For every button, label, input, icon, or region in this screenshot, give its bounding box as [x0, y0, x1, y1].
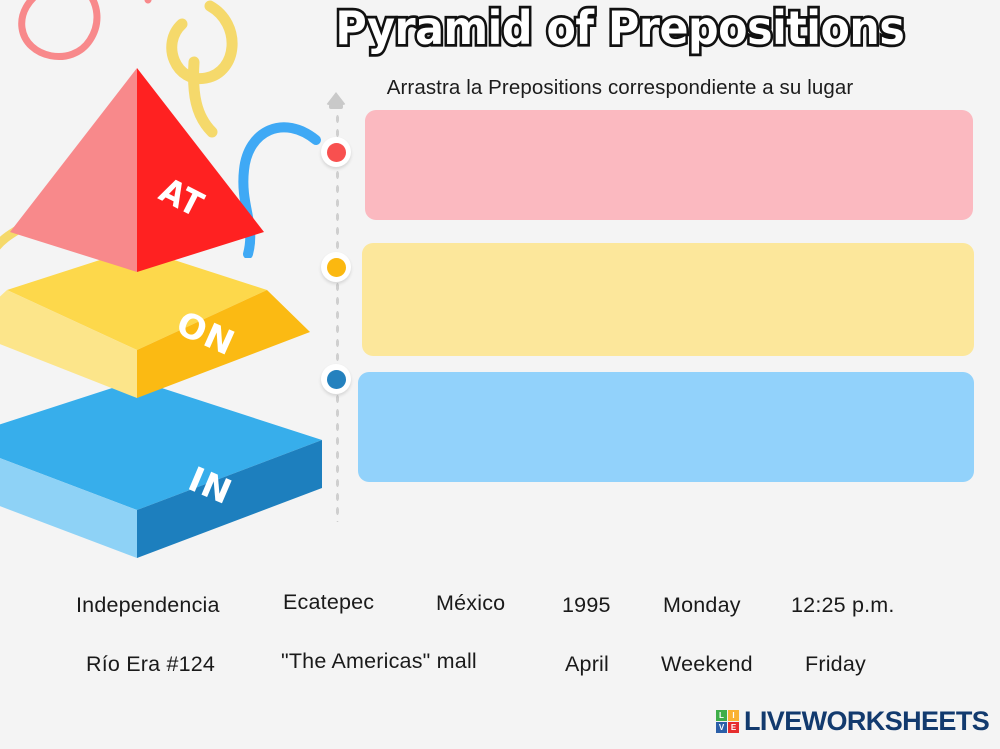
logo-letter-e: E [728, 722, 739, 733]
dropzone-on[interactable] [362, 243, 974, 356]
timeline-node-at[interactable] [321, 137, 351, 167]
word-item[interactable]: Independencia [76, 593, 220, 618]
dropzone-in[interactable] [358, 372, 974, 482]
word-item[interactable]: Weekend [661, 652, 753, 677]
pyramid-graphic: AT ON IN [0, 20, 362, 560]
liveworksheets-logo-text: LIVEWORKSHEETS [744, 706, 989, 737]
word-item[interactable]: Monday [663, 593, 741, 618]
timeline-node-on[interactable] [321, 252, 351, 282]
word-item[interactable]: México [436, 591, 505, 616]
word-item[interactable]: Río Era #124 [86, 652, 215, 677]
word-item[interactable]: April [565, 652, 609, 677]
word-item[interactable]: 1995 [562, 593, 611, 618]
page-title: Pyramid of Prepositions [335, 4, 904, 52]
worksheet-canvas: AT ON IN Pyramid of Prepositions Pyramid… [0, 0, 1000, 749]
dotted-line [335, 112, 339, 522]
liveworksheets-logo-icon: L I V E [716, 710, 739, 733]
dropzone-at[interactable] [365, 110, 973, 220]
word-item[interactable]: Ecatepec [283, 590, 374, 615]
pyramid-layer-at-right [137, 68, 264, 272]
logo-letter-v: V [716, 722, 727, 733]
pyramid-layer-at-left [10, 68, 137, 272]
timeline-node-in[interactable] [321, 364, 351, 394]
timeline-rail [318, 92, 354, 522]
logo-letter-i: I [728, 710, 739, 721]
page-subtitle: Arrastra la Prepositions correspondiente… [300, 76, 940, 100]
arrow-up-icon-stem [329, 104, 343, 109]
word-bank: Independencia Ecatepec México 1995 Monda… [0, 575, 1000, 680]
word-item[interactable]: "The Americas" mall [281, 649, 477, 674]
liveworksheets-logo[interactable]: L I V E LIVEWORKSHEETS [716, 706, 989, 737]
word-item[interactable]: Friday [805, 652, 866, 677]
title-block: Pyramid of Prepositions Pyramid of Prepo… [300, 4, 940, 52]
word-item[interactable]: 12:25 p.m. [791, 593, 895, 618]
logo-letter-l: L [716, 710, 727, 721]
